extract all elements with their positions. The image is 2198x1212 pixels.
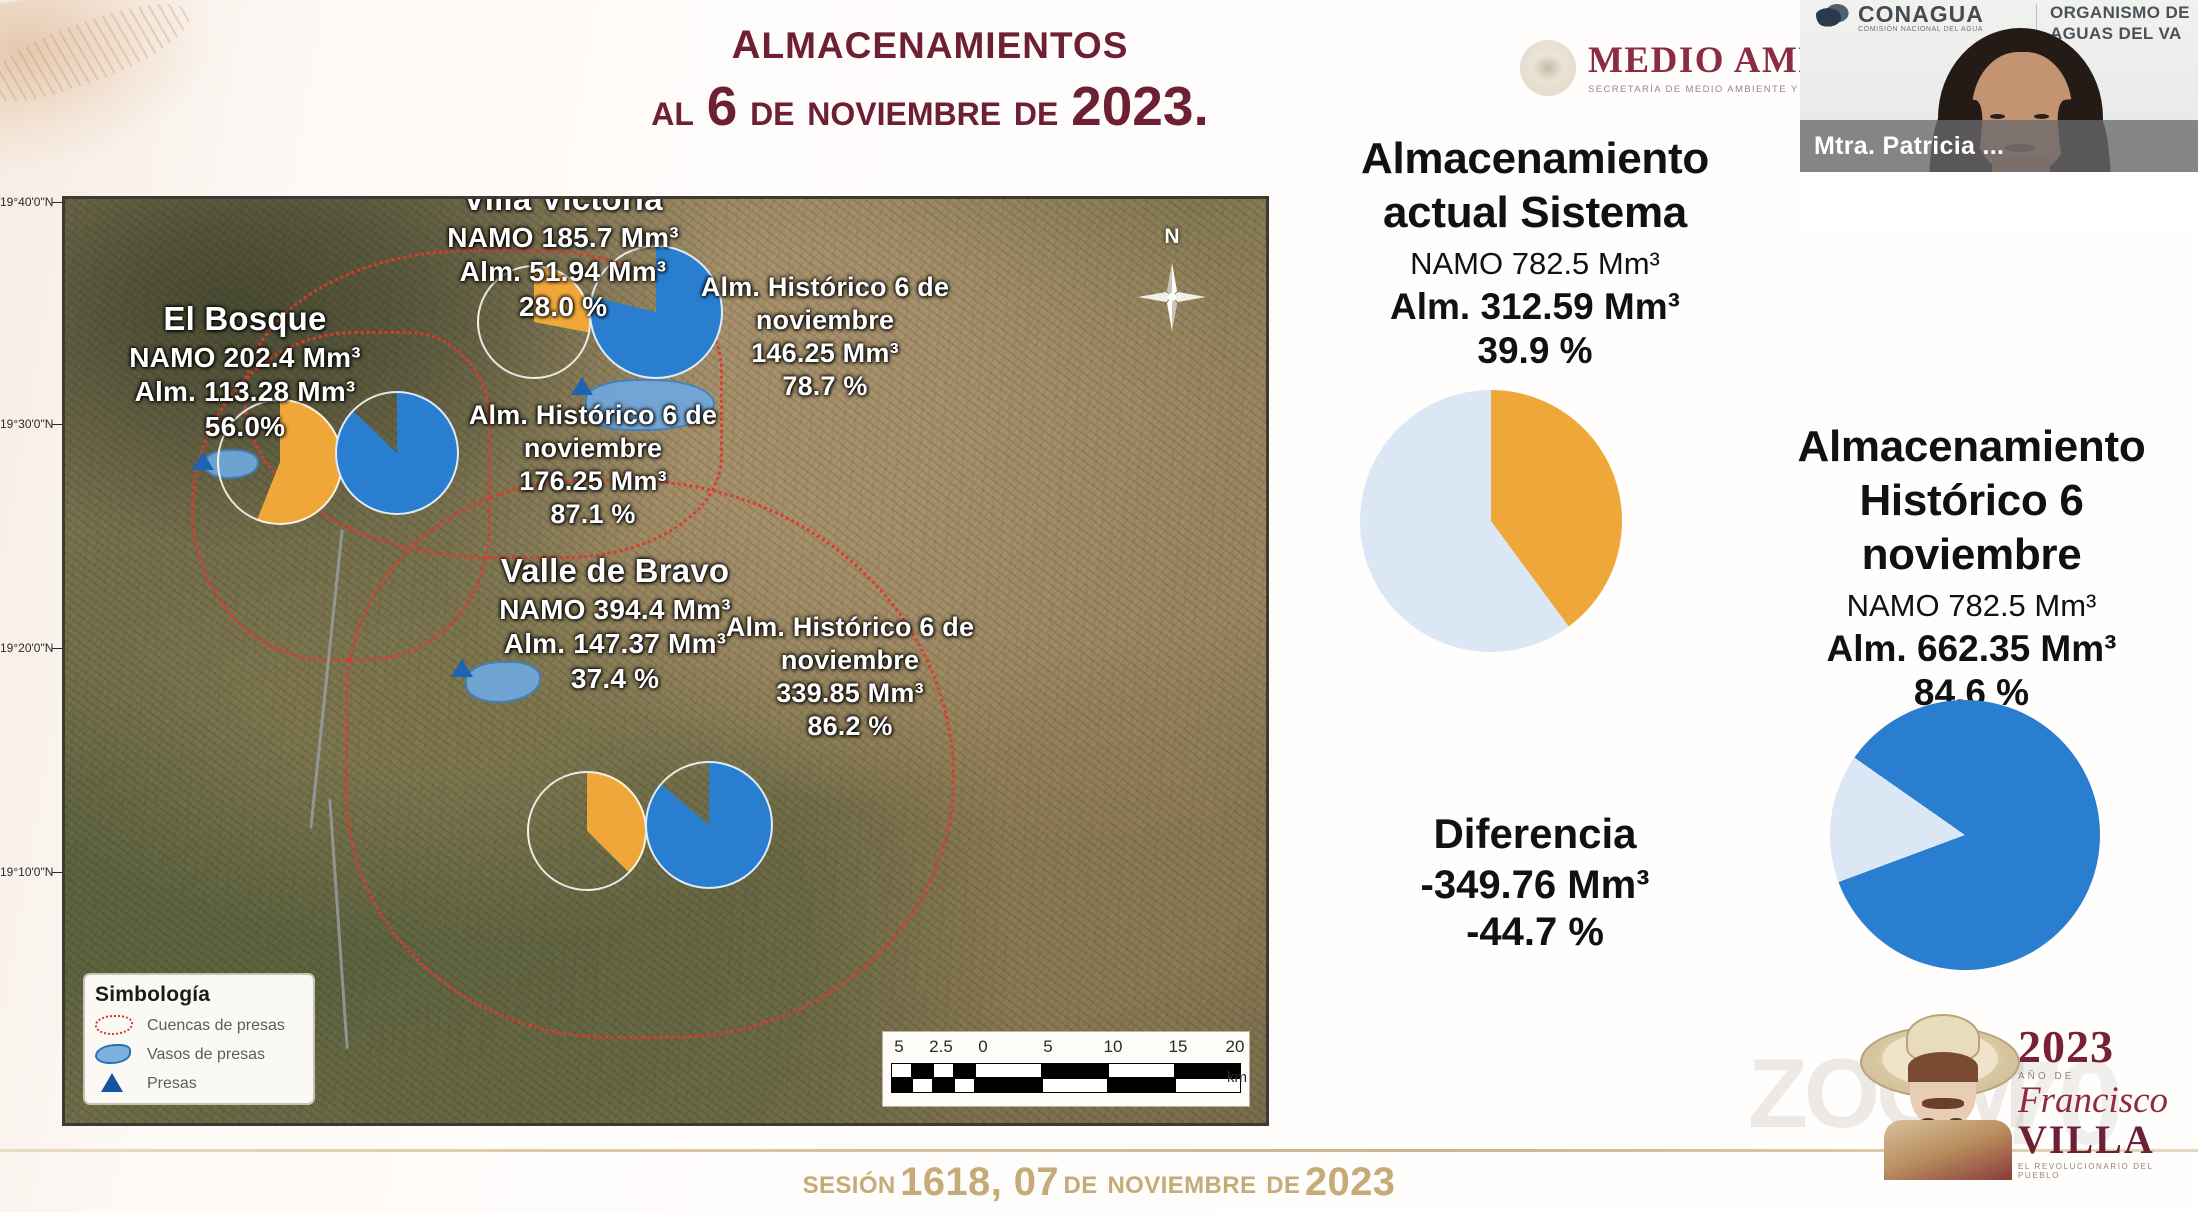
scalebar-tick-5: 15 [1169,1037,1188,1057]
system-alm: Alm. 312.59 Mm³ [1300,286,1770,328]
difference-title: Diferencia [1320,810,1750,858]
hist-pct-valle-de-bravo: 86.2 % [705,710,995,743]
system-pct: 39.9 % [1300,330,1770,372]
title-line-1: Almacenamientos [460,8,1400,72]
title-day: 6 [707,75,738,137]
dam-name-el-bosque: El Bosque [85,299,405,339]
dam-name-valle-de-bravo: Valle de Bravo [445,551,785,591]
compass-rose: N [1126,229,1218,341]
lat-label-2: 19°20'0"N [0,641,53,655]
scalebar-tick-3: 5 [1043,1037,1052,1057]
decorative-feather [0,0,231,176]
scalebar-numbers: 5 2.5 0 5 10 15 20 [891,1037,1241,1063]
pie-system-historic [1830,700,2100,970]
footer-prefix: Sesión [803,1163,896,1202]
historic-title-l2: Histórico 6 [1745,474,2198,528]
legend-row-dams: Presas [95,1069,303,1098]
villa-mustache [1922,1098,1964,1109]
participant-name: Mtra. Patricia ... [1814,132,2004,161]
villa-logo-text: 2023 AÑO DE Francisco VILLA EL REVOLUCIO… [2018,1020,2186,1180]
lat-label-0: 19°40'0"N [0,195,53,209]
dam-pct-el-bosque: 56.0% [85,410,405,444]
lat-tick-1 [52,424,62,425]
lat-label-3: 19°10'0"N [0,865,53,879]
hist-title-l2-el-bosque: noviembre [453,432,733,465]
historic-title-l1: Almacenamiento [1745,420,2198,474]
dam-namo-el-bosque: NAMO 202.4 Mm³ [85,341,405,375]
conagua-name: CONAGUA [1858,2,1984,26]
title-line-2: al 6 de noviembre de 2023. [460,76,1400,139]
villa-year: 2023 [2018,1020,2186,1073]
basin-outline-icon [95,1015,135,1037]
hist-alm-valle-de-bravo: 339.85 Mm³ [705,677,995,710]
mexico-eagle-icon [1520,40,1576,96]
hist-pct-el-bosque: 87.1 % [453,498,733,531]
pie-system-current [1360,390,1622,652]
scalebar-tick-4: 10 [1104,1037,1123,1057]
villa-firstname: Francisco [2018,1082,2186,1120]
panel-system-current: Almacenamiento actual Sistema NAMO 782.5… [1300,132,1770,372]
difference-pct: -44.7 % [1320,910,1750,955]
footer-middle: de noviembre de [1063,1163,1300,1202]
map-container[interactable]: 100°30'0"W 100°20'0"W 100°10'0"W 100°0'0… [62,196,1269,1126]
historic-title-l3: noviembre [1745,528,2198,582]
lat-tick-2 [52,648,62,649]
lat-label-1: 19°30'0"N [0,417,53,431]
footer-session: 1618, 07 [900,1160,1059,1205]
pie-valle-de-bravo-current [527,771,647,891]
label-el-bosque-historic: Alm. Histórico 6 de noviembre 176.25 Mm³… [453,399,733,531]
title-prefix: al [651,83,694,135]
label-valle-de-bravo-historic: Alm. Histórico 6 de noviembre 339.85 Mm³… [705,611,995,743]
dam-triangle-icon [95,1073,135,1095]
slide-title: Almacenamientos al 6 de noviembre de 202… [460,8,1400,139]
compass-star-icon [1136,261,1208,333]
lat-tick-0 [52,202,62,203]
francisco-villa-logo: 70 2023 AÑO DE Francisco VILLA EL REVOLU… [1858,1008,2188,1168]
lake-polygon-icon [95,1044,135,1066]
label-el-bosque: El Bosque NAMO 202.4 Mm³ Alm. 113.28 Mm³… [85,299,405,444]
compass-north-label: N [1164,225,1179,249]
system-title-l2: actual Sistema [1300,186,1770,240]
legend-row-lakes: Vasos de presas [95,1040,303,1069]
title-year: 2023. [1071,75,1209,137]
map-legend: Simbología Cuencas de presas Vasos de pr… [83,973,315,1105]
conagua-mark-icon [1816,2,1850,30]
legend-row-basins: Cuencas de presas [95,1011,303,1040]
system-title-l1: Almacenamiento [1300,132,1770,186]
video-bottom-strip [1800,172,2198,230]
hist-title-l2-valle-de-bravo: noviembre [705,644,995,677]
scalebar-tick-1: 2.5 [929,1037,953,1057]
hist-alm-villa-victoria: 146.25 Mm³ [685,337,965,370]
title-middle: de noviembre de [750,83,1058,135]
eye-right [2034,114,2049,119]
dam-namo-villa-victoria: NAMO 185.7 Mm³ [383,221,743,255]
system-namo: NAMO 782.5 Mm³ [1300,246,1770,282]
satellite-map[interactable]: Villa Victoria NAMO 185.7 Mm³ Alm. 51.94… [62,196,1269,1126]
legend-label-lakes: Vasos de presas [147,1046,265,1064]
villa-tagline: EL REVOLUCIONARIO DEL PUEBLO [2018,1162,2186,1180]
legend-title: Simbología [95,983,303,1007]
legend-label-dams: Presas [147,1075,197,1093]
villa-torso [1884,1120,2012,1180]
scalebar-bars [891,1063,1241,1093]
scalebar-tick-2: 0 [978,1037,987,1057]
scalebar-tick-6: 20 [1226,1037,1245,1057]
dam-name-villa-victoria: Villa Victoria [383,196,743,219]
legend-label-basins: Cuencas de presas [147,1017,285,1035]
map-scalebar: 5 2.5 0 5 10 15 20 [882,1031,1250,1107]
hist-title-l2-villa-victoria: noviembre [685,304,965,337]
dam-marker-el-bosque [192,452,214,470]
label-villa-victoria-historic: Alm. Histórico 6 de noviembre 146.25 Mm³… [685,271,965,403]
panel-system-historic: Almacenamiento Histórico 6 noviembre NAM… [1745,420,2198,714]
scalebar-tick-0: 5 [894,1037,903,1057]
hist-pct-villa-victoria: 78.7 % [685,370,965,403]
villa-portrait-icon [1866,1018,2014,1158]
pie-valle-de-bravo-historic [645,761,773,889]
dam-marker-villa-victoria [571,377,593,395]
hist-title-l1-villa-victoria: Alm. Histórico 6 de [685,271,965,304]
scalebar-unit: km [1227,1069,1247,1086]
villa-hair [1908,1052,1978,1082]
dam-alm-el-bosque: Alm. 113.28 Mm³ [85,375,405,409]
villa-lastname: VILLA [2018,1120,2186,1160]
hist-title-l1-valle-de-bravo: Alm. Histórico 6 de [705,611,995,644]
panel-difference: Diferencia -349.76 Mm³ -44.7 % [1320,810,1750,955]
hist-alm-el-bosque: 176.25 Mm³ [453,465,733,498]
historic-alm: Alm. 662.35 Mm³ [1745,628,2198,670]
organismo-line-1: ORGANISMO DE [2050,2,2190,23]
difference-value: -349.76 Mm³ [1320,863,1750,908]
lat-tick-3 [52,872,62,873]
historic-namo: NAMO 782.5 Mm³ [1745,588,2198,624]
hist-title-l1-el-bosque: Alm. Histórico 6 de [453,399,733,432]
eye-left [1990,114,2005,119]
video-participant-tile[interactable]: CONAGUA COMISIÓN NACIONAL DEL AGUA ORGAN… [1800,0,2198,230]
footer-year: 2023 [1305,1160,1396,1205]
participant-name-bar: Mtra. Patricia ... [1800,120,2198,172]
slide-root: Almacenamientos al 6 de noviembre de 202… [0,0,2198,1212]
